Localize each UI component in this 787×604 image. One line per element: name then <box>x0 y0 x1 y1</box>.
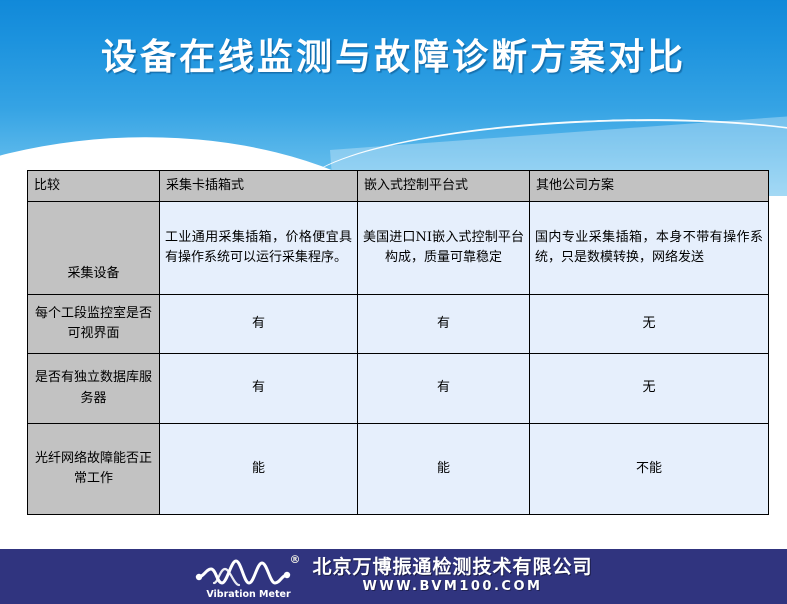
cell-acquisition-embedded-platform: 美国进口NI嵌入式控制平台构成，质量可靠稳定 <box>358 202 530 295</box>
brand-logo: ® Vibration Meter <box>194 553 302 601</box>
row-label-acquisition-device: 采集设备 <box>28 202 160 295</box>
cell-fiber-other-vendor: 不能 <box>530 424 769 515</box>
footer-band: ® Vibration Meter 北京万博振通检测技术有限公司 WWW.BVM… <box>0 549 787 604</box>
cell-acquisition-card-chassis: 工业通用采集插箱，价格便宜具有操作系统可以运行采集程序。 <box>160 202 358 295</box>
company-name: 北京万博振通检测技术有限公司 <box>312 557 592 579</box>
row-label-fiber-fault: 光纤网络故障能否正常工作 <box>28 424 160 515</box>
cell-database-card-chassis: 有 <box>160 354 358 424</box>
table-row: 光纤网络故障能否正常工作 能 能 不能 <box>28 424 769 515</box>
table-row: 是否有独立数据库服务器 有 有 无 <box>28 354 769 424</box>
column-header-card-chassis: 采集卡插箱式 <box>160 171 358 202</box>
cell-acquisition-other-vendor: 国内专业采集插箱，本身不带有操作系统，只是数模转换，网络发送 <box>530 202 769 295</box>
cell-visual-embedded-platform: 有 <box>358 295 530 354</box>
page-title: 设备在线监测与故障诊断方案对比 <box>0 28 787 80</box>
column-header-other-vendor: 其他公司方案 <box>530 171 769 202</box>
company-website[interactable]: WWW.BVM100.COM <box>312 579 592 595</box>
logo-wordmark: Vibration Meter <box>199 589 297 600</box>
registered-trademark-icon: ® <box>289 553 300 566</box>
cell-database-embedded-platform: 有 <box>358 354 530 424</box>
column-header-embedded-platform: 嵌入式控制平台式 <box>358 171 530 202</box>
comparison-table-wrapper: 比较 采集卡插箱式 嵌入式控制平台式 其他公司方案 采集设备 工业通用采集插箱，… <box>27 170 768 515</box>
cell-database-other-vendor: 无 <box>530 354 769 424</box>
slide-canvas: 设备在线监测与故障诊断方案对比 比较 采集卡插箱式 嵌入式控制平台式 其他公司方… <box>0 0 787 604</box>
row-label-database-server: 是否有独立数据库服务器 <box>28 354 160 424</box>
footer-text-block: 北京万博振通检测技术有限公司 WWW.BVM100.COM <box>312 557 592 595</box>
column-header-compare: 比较 <box>28 171 160 202</box>
cell-visual-card-chassis: 有 <box>160 295 358 354</box>
row-label-visual-interface: 每个工段监控室是否可视界面 <box>28 295 160 354</box>
cell-fiber-card-chassis: 能 <box>160 424 358 515</box>
table-row: 每个工段监控室是否可视界面 有 有 无 <box>28 295 769 354</box>
cell-fiber-embedded-platform: 能 <box>358 424 530 515</box>
cell-visual-other-vendor: 无 <box>530 295 769 354</box>
comparison-table: 比较 采集卡插箱式 嵌入式控制平台式 其他公司方案 采集设备 工业通用采集插箱，… <box>27 170 769 515</box>
table-header-row: 比较 采集卡插箱式 嵌入式控制平台式 其他公司方案 <box>28 171 769 202</box>
table-row: 采集设备 工业通用采集插箱，价格便宜具有操作系统可以运行采集程序。 美国进口NI… <box>28 202 769 295</box>
